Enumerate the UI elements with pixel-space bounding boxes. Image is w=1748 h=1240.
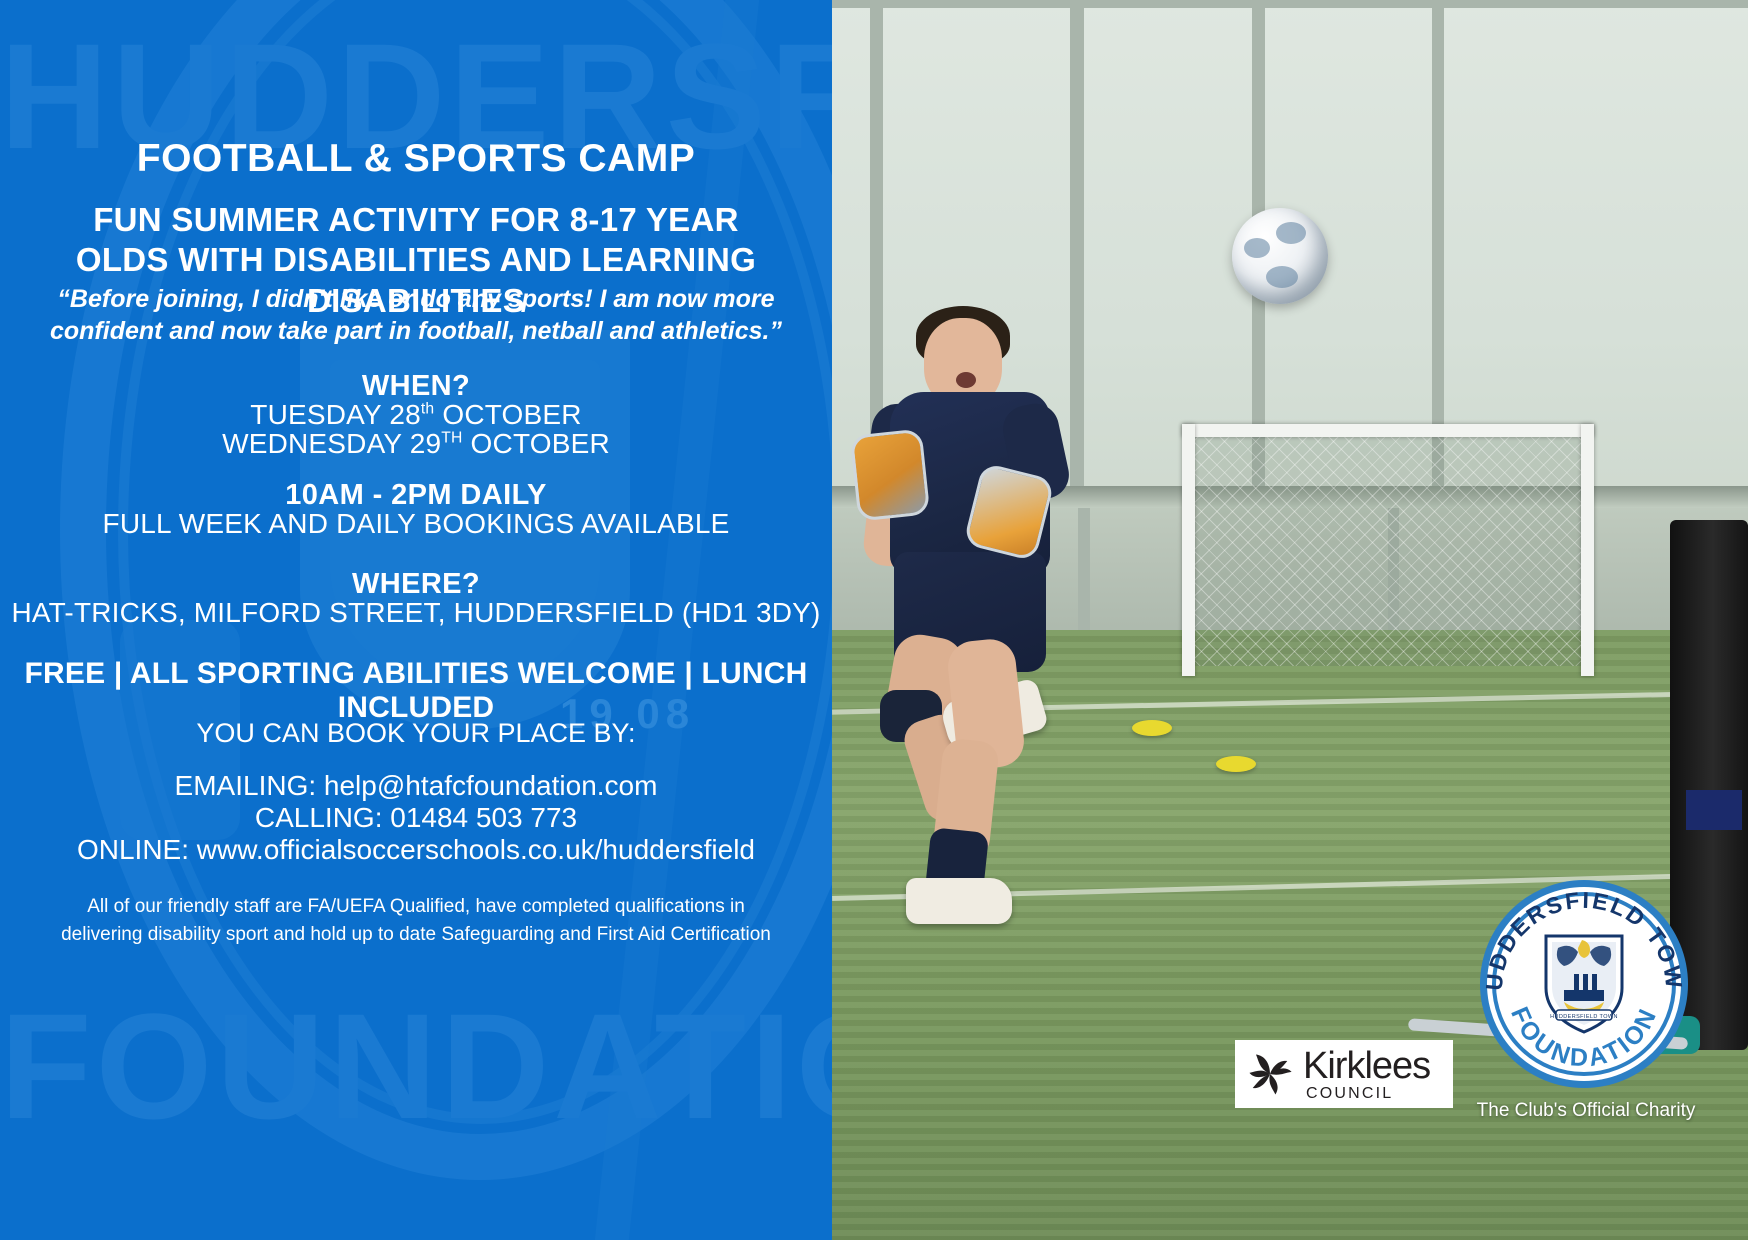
photo-ball-patch-2 — [1276, 222, 1306, 244]
photo-player-boot-front — [906, 878, 1012, 924]
charity-caption: The Club's Official Charity — [1446, 1100, 1726, 1122]
htafc-foundation-badge: HUDDERSFIELD TOWN FOUNDATION HUDDERSFIEL… — [1478, 878, 1690, 1090]
photo-wall-column-2 — [1070, 0, 1084, 490]
photo-football — [1232, 208, 1328, 304]
kirklees-council-logo: Kirklees COUNCIL — [1235, 1040, 1453, 1108]
time-detail: FULL WEEK AND DAILY BOOKINGS AVAILABLE — [0, 508, 832, 540]
when-date-1-prefix: TUESDAY 28 — [250, 399, 421, 430]
testimonial-quote: “Before joining, I didn't like or do any… — [0, 283, 832, 347]
when-date-1-ordinal: th — [421, 401, 434, 418]
kirklees-swirl-icon — [1243, 1047, 1297, 1101]
where-address: HAT-TRICKS, MILFORD STREET, HUDDERSFIELD… — [0, 597, 832, 629]
photo-ball-patch-3 — [1266, 266, 1298, 288]
badge-club-crest: HUDDERSFIELD TOWN — [1546, 936, 1622, 1032]
photo-ball-patch-1 — [1244, 238, 1270, 258]
poster-root: HUDDERSFIELD 19 08 FOUNDATION FOOTBALL &… — [0, 0, 1748, 1240]
poster-content: FOOTBALL & SPORTS CAMP FUN SUMMER ACTIVI… — [0, 0, 832, 1240]
booking-online-link[interactable]: ONLINE: www.officialsoccerschools.co.uk/… — [0, 834, 832, 866]
photo-wall-column-4 — [1432, 0, 1444, 490]
when-date-2-suffix: OCTOBER — [463, 428, 610, 459]
info-panel: HUDDERSFIELD 19 08 FOUNDATION FOOTBALL &… — [0, 0, 832, 1240]
kirklees-name: Kirklees — [1303, 1047, 1430, 1085]
photo-wall-beam-top — [832, 0, 1748, 8]
kirklees-wordmark: Kirklees COUNCIL — [1303, 1047, 1430, 1102]
free-banner: FREE | ALL SPORTING ABILITIES WELCOME | … — [0, 657, 832, 725]
photo-goal-post-left — [1182, 424, 1195, 676]
photo-goal-net — [1184, 430, 1592, 666]
when-date-1-suffix: OCTOBER — [434, 399, 581, 430]
kirklees-subtitle: COUNCIL — [1306, 1086, 1430, 1102]
photo-player-glove-left — [850, 428, 931, 521]
booking-intro: YOU CAN BOOK YOUR PLACE BY: — [0, 718, 832, 749]
photo-union-flag-sticker — [1686, 790, 1742, 830]
badge-crest-bar — [1564, 990, 1604, 1001]
when-date-2-prefix: WEDNESDAY 29 — [222, 428, 441, 459]
fineprint-disclaimer: All of our friendly staff are FA/UEFA Qu… — [0, 893, 832, 948]
photo-training-cone-2 — [1216, 756, 1256, 772]
when-date-1: TUESDAY 28th OCTOBER — [0, 399, 832, 431]
badge-crest-banner-text: HUDDERSFIELD TOWN — [1550, 1014, 1618, 1020]
photo-training-cone-1 — [1132, 720, 1172, 736]
photo-goal-crossbar — [1182, 424, 1594, 437]
page-title: FOOTBALL & SPORTS CAMP — [0, 138, 832, 181]
booking-phone[interactable]: CALLING: 01484 503 773 — [0, 802, 832, 834]
when-date-2: WEDNESDAY 29TH OCTOBER — [0, 428, 832, 460]
booking-email[interactable]: EMAILING: help@htafcfoundation.com — [0, 770, 832, 802]
photo-goal-post-right — [1581, 424, 1594, 676]
when-date-2-ordinal: TH — [441, 430, 462, 447]
photo-player-mouth — [956, 372, 976, 388]
